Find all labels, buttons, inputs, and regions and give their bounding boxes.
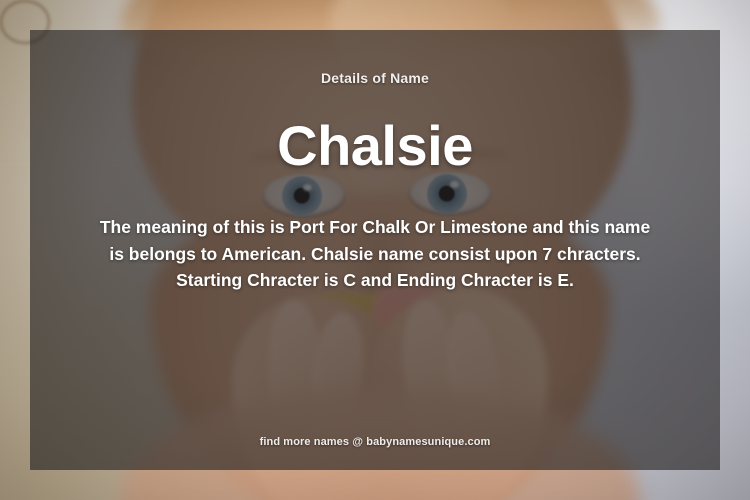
footer-attribution: find more names @ babynamesunique.com [30, 436, 720, 448]
content-overlay-panel: Details of Name Chalsie The meaning of t… [30, 30, 720, 470]
name-description: The meaning of this is Port For Chalk Or… [92, 214, 658, 294]
name-details-card: Details of Name Chalsie The meaning of t… [0, 0, 750, 500]
baby-name-heading: Chalsie [30, 118, 720, 174]
page-title: Details of Name [30, 70, 720, 86]
